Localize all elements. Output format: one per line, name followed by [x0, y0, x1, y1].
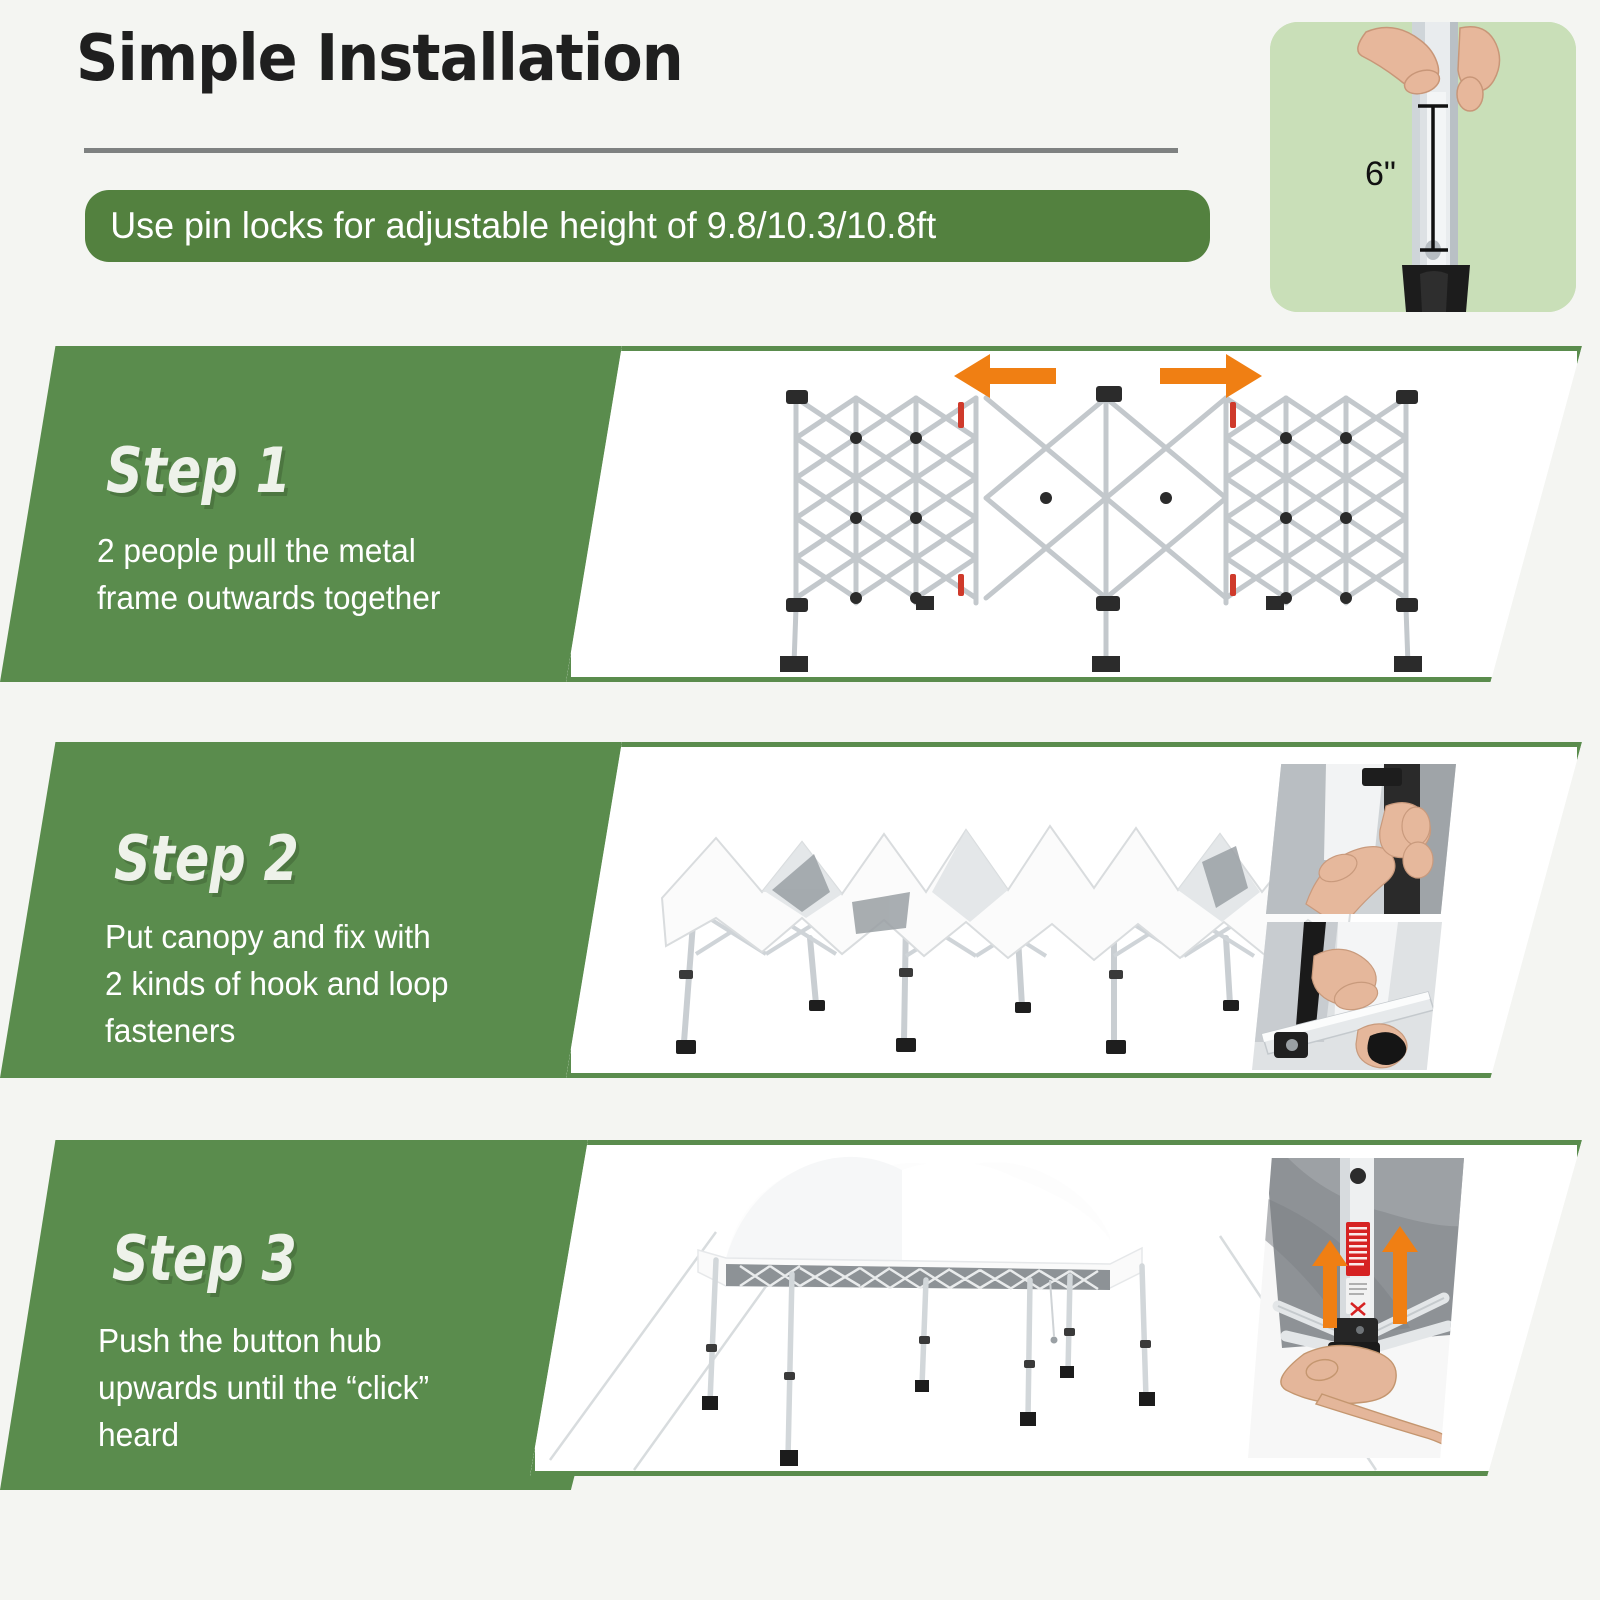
- step-3-photo-panel: [530, 1140, 1582, 1476]
- step-2-description: Put canopy and fix with 2 kinds of hook …: [105, 914, 556, 1055]
- pole-illustration: 6": [1270, 22, 1576, 312]
- step-1-text-panel: [0, 346, 660, 682]
- step-3-label: Step 3: [112, 1222, 297, 1295]
- arrow-right-icon: [1160, 354, 1262, 398]
- page-title: Simple Installation: [76, 22, 683, 96]
- step-row-2: Step 2 Put canopy and fix with 2 kinds o…: [0, 742, 1600, 1078]
- measure-label: 6": [1365, 155, 1396, 193]
- hook-loop-illustration: [1266, 764, 1456, 914]
- title-divider: [84, 148, 1178, 153]
- adjustable-height-banner: Use pin locks for adjustable height of 9…: [85, 190, 1210, 262]
- step-2-label: Step 2: [114, 822, 299, 895]
- step-1-label: Step 1: [106, 434, 291, 507]
- push-button-hub-photo: [1248, 1158, 1464, 1458]
- step-1-description: 2 people pull the metal frame outwards t…: [97, 528, 548, 622]
- folded-frame-photo: [566, 346, 1582, 682]
- push-hub-illustration: [1248, 1158, 1464, 1458]
- hook-loop-fastener-photo: [1266, 764, 1456, 914]
- step-1-photo-panel: [566, 346, 1582, 682]
- step-2-photo-panel: [566, 742, 1582, 1078]
- step-3-description: Push the button hub upwards until the “c…: [98, 1318, 559, 1459]
- arrow-left-icon: [954, 354, 1056, 398]
- adjustable-leg-detail-image: 6": [1270, 22, 1576, 312]
- strap-buckle-illustration: [1252, 922, 1442, 1070]
- step-row-1: Step 1 2 people pull the metal frame out…: [0, 346, 1600, 682]
- adjustable-height-banner-label: Use pin locks for adjustable height of 9…: [85, 205, 936, 247]
- warning-label: [1346, 1222, 1370, 1276]
- step-row-3: Step 3 Push the button hub upwards until…: [0, 1140, 1600, 1490]
- strap-buckle-photo: [1252, 922, 1442, 1070]
